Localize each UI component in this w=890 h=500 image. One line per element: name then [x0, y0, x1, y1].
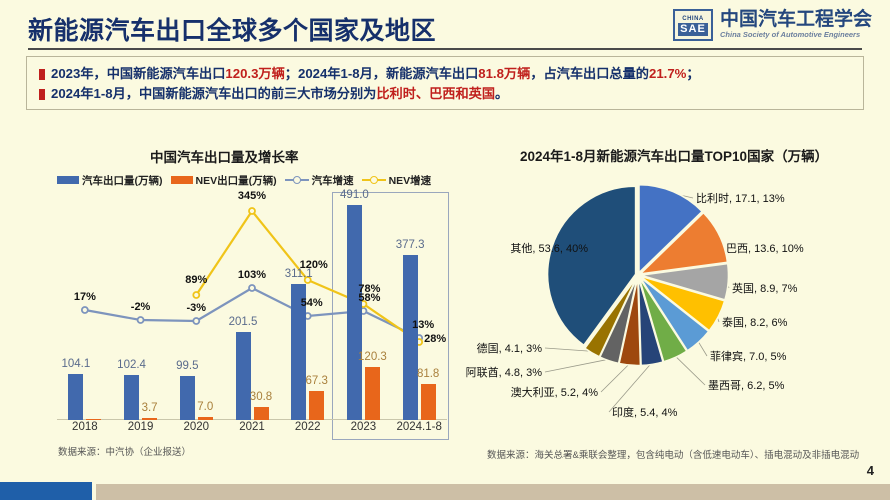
growth-label-nev: 89%	[185, 274, 207, 286]
bar-nev-export	[198, 417, 213, 420]
logo-china-text: CHINA	[682, 15, 704, 23]
callout-2-text: 2024年1-8月，中国新能源汽车出口的前三大市场分别为比利时、巴西和英国。	[51, 84, 508, 104]
bar-auto-export	[236, 332, 251, 420]
growth-label-auto: -3%	[187, 302, 207, 314]
legend-line-nev-growth-icon	[362, 175, 386, 185]
title-bar: 新能源汽车出口全球多个国家及地区	[28, 12, 648, 46]
pie-leader-line	[545, 359, 610, 372]
left-source-note: 数据来源：中汽协（企业报送）	[58, 444, 191, 458]
logo-sae-text: SAE	[678, 23, 708, 36]
pie-slice-label: 泰国, 8.2, 6%	[722, 314, 787, 330]
bar-auto-export	[180, 376, 195, 420]
growth-label-auto: 13%	[412, 319, 434, 331]
growth-label-auto: -2%	[131, 301, 151, 313]
x-axis-tick-label: 2021	[239, 421, 265, 433]
bar-value-label-auto: 201.5	[229, 316, 258, 328]
bar-value-label-auto: 104.1	[61, 358, 90, 370]
x-axis-tick-label: 2023	[351, 421, 377, 433]
slide-canvas: 新能源汽车出口全球多个国家及地区 CHINA SAE 中国汽车工程学会 Chin…	[0, 0, 890, 500]
bar-auto-export	[403, 255, 418, 420]
callout-line-2: 2024年1-8月，中国新能源汽车出口的前三大市场分别为比利时、巴西和英国。	[39, 84, 853, 104]
right-source-note: 数据来源：海关总署&乘联会整理，包含纯电动（含低速电动车）、插电混动及非插电混动	[487, 447, 859, 461]
pie-slice-label: 比利时, 17.1, 13%	[696, 190, 785, 206]
bar-value-label-auto: 377.3	[396, 239, 425, 251]
auto-growth-marker	[249, 285, 255, 291]
bar-nev-export	[254, 407, 269, 421]
bar-auto-export	[347, 205, 362, 420]
legend-item-nev-export: NEV出口量(万辆)	[171, 173, 277, 188]
legend-item-nev-growth: NEV增速	[362, 173, 432, 188]
legend-label-auto-export: 汽车出口量(万辆)	[82, 173, 163, 188]
bar-nev-export	[86, 419, 101, 421]
growth-line-layer	[57, 192, 447, 420]
pie-leader-line	[698, 341, 707, 356]
legend-item-auto-export: 汽车出口量(万辆)	[57, 173, 163, 188]
logo-names: 中国汽车工程学会 China Society of Automotive Eng…	[720, 10, 872, 40]
bar-chart-x-axis: 2018201920202021202220232024.1-8	[57, 421, 447, 439]
bar-value-label-auto: 102.4	[117, 359, 146, 371]
bar-value-label-auto: 491.0	[340, 189, 369, 201]
callout-line-1: 2023年，中国新能源汽车出口120.3万辆；2024年1-8月，新能源汽车出口…	[39, 64, 853, 84]
bar-nev-export	[365, 367, 380, 420]
x-axis-tick-label: 2024.1-8	[396, 421, 441, 433]
callout-1-text: 2023年，中国新能源汽车出口120.3万辆；2024年1-8月，新能源汽车出口…	[51, 64, 700, 84]
logo-name-cn: 中国汽车工程学会	[720, 10, 872, 30]
x-axis-tick-label: 2020	[183, 421, 209, 433]
bullet-square-icon	[39, 69, 45, 80]
bar-chart-plot-area: 104.1102.43.799.57.0201.530.8311.167.349…	[57, 192, 447, 420]
x-axis-tick-label: 2022	[295, 421, 321, 433]
footer-accent-tan	[96, 484, 890, 500]
footer-accent-blue	[0, 482, 92, 500]
legend-swatch-blue-icon	[57, 176, 79, 184]
logo-name-en: China Society of Automotive Engineers	[720, 30, 872, 40]
bar-chart-title: 中国汽车出口量及增长率	[150, 146, 299, 166]
bar-value-label-nev: 81.8	[417, 368, 439, 380]
legend-item-auto-growth: 汽车增速	[285, 173, 354, 188]
growth-label-nev: 78%	[358, 283, 380, 295]
bar-value-label-nev: 120.3	[358, 351, 387, 363]
pie-slice-label: 印度, 5.4, 4%	[612, 404, 677, 420]
bar-nev-export	[142, 418, 157, 420]
auto-growth-marker	[193, 318, 199, 324]
pie-chart-area: 其他, 53.6, 40%比利时, 17.1, 13%巴西, 13.6, 10%…	[460, 170, 890, 440]
nev-growth-marker	[193, 292, 199, 298]
sae-logo-icon: CHINA SAE	[673, 9, 713, 41]
x-axis-tick-label: 2019	[128, 421, 154, 433]
legend-line-auto-growth-icon	[285, 175, 309, 185]
page-title: 新能源汽车出口全球多个国家及地区	[28, 11, 436, 47]
organization-logo: CHINA SAE 中国汽车工程学会 China Society of Auto…	[673, 9, 872, 41]
pie-leader-line	[675, 356, 705, 385]
bar-auto-export	[124, 375, 139, 420]
legend-label-auto-growth: 汽车增速	[312, 173, 354, 188]
auto-growth-marker	[82, 307, 88, 313]
pie-slice-label: 墨西哥, 6.2, 5%	[708, 377, 784, 393]
title-divider	[28, 48, 862, 50]
legend-label-nev-growth: NEV增速	[389, 173, 432, 188]
bar-value-label-nev: 7.0	[197, 401, 213, 413]
pie-slice-label: 德国, 4.1, 3%	[477, 340, 542, 356]
bar-value-label-auto: 99.5	[176, 360, 198, 372]
bar-value-label-nev: 3.7	[142, 402, 158, 414]
bar-auto-export	[68, 374, 83, 420]
page-number: 4	[867, 463, 874, 478]
growth-label-auto: 17%	[74, 291, 96, 303]
pie-leader-line	[601, 363, 630, 392]
pie-slice-label: 阿联酋, 4.8, 3%	[466, 364, 542, 380]
growth-label-nev: 120%	[300, 259, 328, 271]
bar-value-label-nev: 67.3	[306, 375, 328, 387]
pie-chart-title: 2024年1-8月新能源汽车出口量TOP10国家（万辆）	[520, 145, 828, 165]
x-axis-tick-label: 2018	[72, 421, 98, 433]
pie-slice-label: 英国, 8.9, 7%	[732, 280, 797, 296]
nev-growth-marker	[249, 208, 255, 214]
growth-label-nev: 28%	[424, 333, 446, 345]
bar-nev-export	[421, 384, 436, 420]
pie-slice-label: 其他, 53.6, 40%	[510, 240, 588, 256]
auto-growth-marker	[138, 317, 144, 323]
bullet-square-icon	[39, 89, 45, 100]
bar-chart-legend: 汽车出口量(万辆) NEV出口量(万辆) 汽车增速 NEV增速	[57, 172, 447, 188]
summary-callout-box: 2023年，中国新能源汽车出口120.3万辆；2024年1-8月，新能源汽车出口…	[26, 56, 864, 110]
pie-slice-label: 澳大利亚, 5.2, 4%	[511, 384, 598, 400]
growth-label-nev: 345%	[238, 190, 266, 202]
growth-label-auto: 103%	[238, 269, 266, 281]
growth-label-auto: 54%	[301, 297, 323, 309]
pie-slice-label: 巴西, 13.6, 10%	[726, 240, 804, 256]
bar-value-label-nev: 30.8	[250, 391, 272, 403]
legend-label-nev-export: NEV出口量(万辆)	[196, 173, 277, 188]
legend-swatch-orange-icon	[171, 176, 193, 184]
bar-nev-export	[309, 391, 324, 421]
pie-slice-label: 菲律宾, 7.0, 5%	[710, 348, 786, 364]
